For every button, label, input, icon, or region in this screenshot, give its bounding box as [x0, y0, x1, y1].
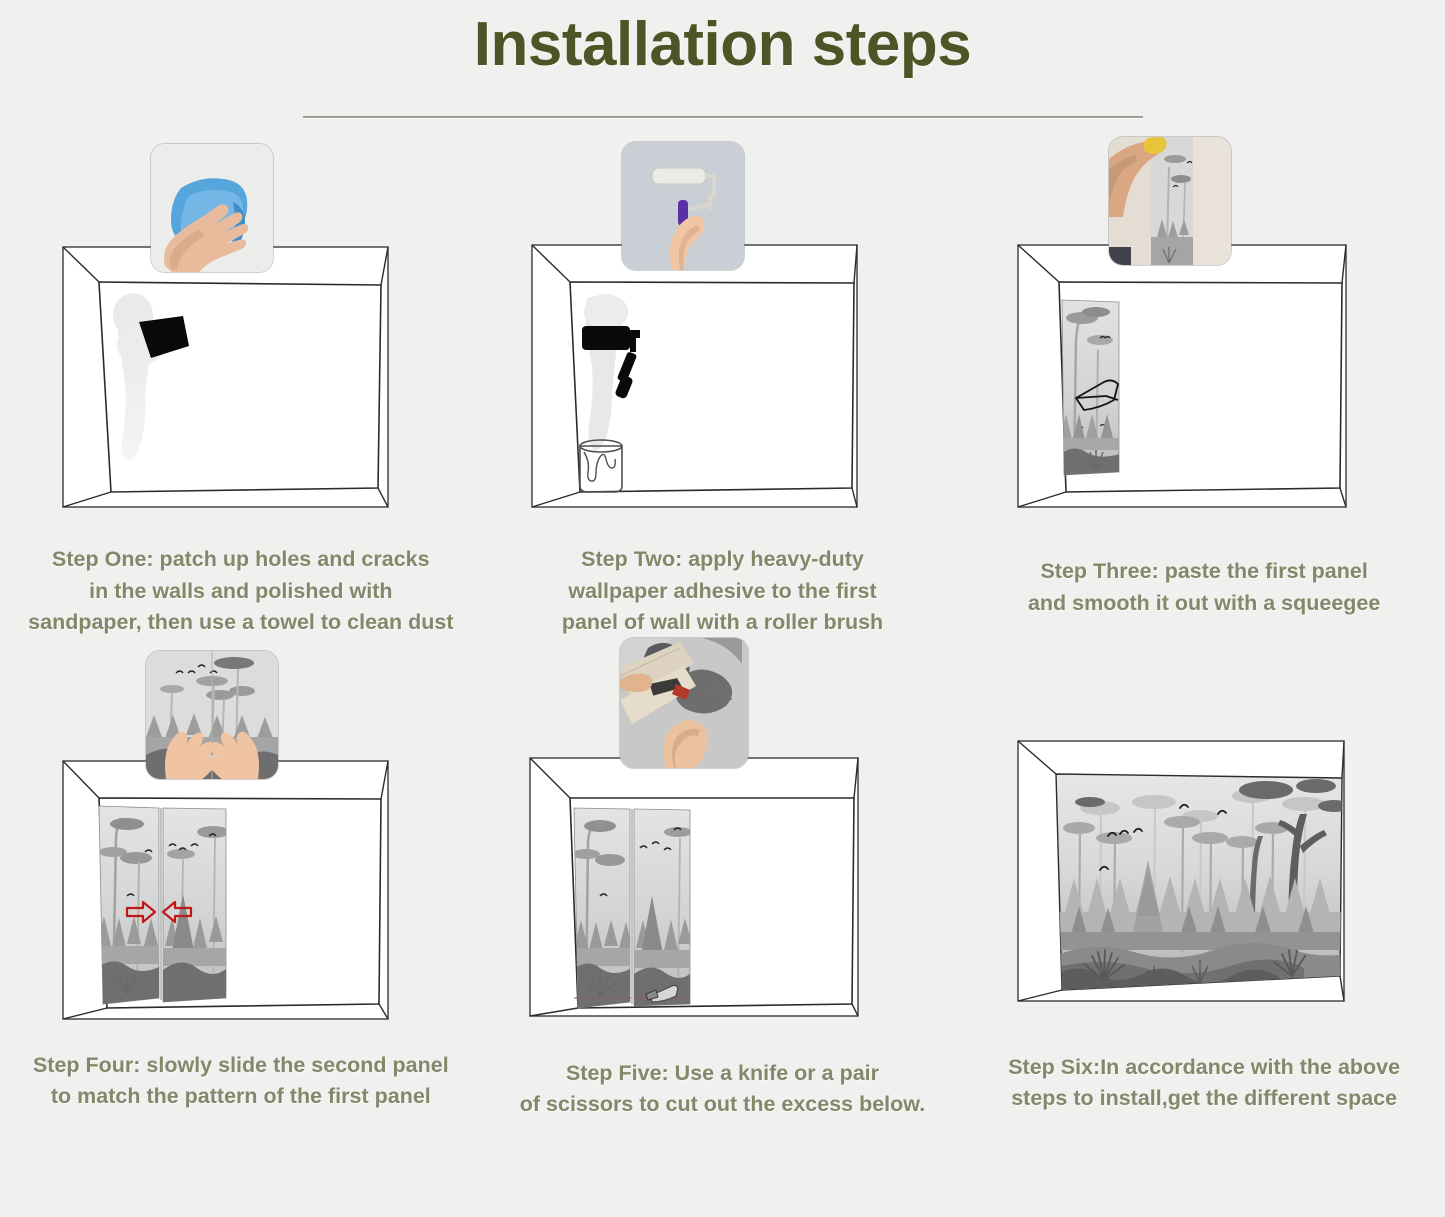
- step-three-photo-thumbnail: [1109, 137, 1231, 265]
- caption-line: Step Four: slowly slide the second panel: [33, 1050, 449, 1081]
- caption-line: panel of wall with a roller brush: [562, 607, 883, 638]
- step-card-three: Step Three: paste the first panel and sm…: [963, 140, 1445, 638]
- step-card-two: Step Two: apply heavy-duty wallpaper adh…: [482, 140, 964, 638]
- caption-line: and smooth it out with a squeegee: [1028, 588, 1380, 619]
- step-two-photo-thumbnail: [622, 142, 744, 270]
- step-six-caption: Step Six:In accordance with the above st…: [1008, 1052, 1400, 1114]
- caption-line: Step Two: apply heavy-duty: [562, 544, 883, 575]
- caption-line: sandpaper, then use a towel to clean dus…: [28, 607, 453, 638]
- caption-line: Step Six:In accordance with the above: [1008, 1052, 1400, 1083]
- step-three-illustration: [1004, 140, 1404, 540]
- step-card-four: Step Four: slowly slide the second panel…: [0, 646, 482, 1120]
- step-three-caption: Step Three: paste the first panel and sm…: [1028, 556, 1380, 618]
- room-diagram-six: [1004, 646, 1404, 1046]
- step-card-five: Step Five: Use a knife or a pair of scis…: [482, 646, 964, 1120]
- step-six-illustration: [1004, 646, 1404, 1046]
- step-five-illustration: [522, 646, 922, 1046]
- caption-line: of scissors to cut out the excess below.: [520, 1089, 925, 1120]
- mural-panel-first: [572, 808, 634, 1008]
- step-one-caption: Step One: patch up holes and cracks in t…: [28, 544, 453, 638]
- step-card-six: Step Six:In accordance with the above st…: [963, 646, 1445, 1120]
- installation-steps-grid: Step One: patch up holes and cracks in t…: [0, 140, 1445, 1120]
- step-two-caption: Step Two: apply heavy-duty wallpaper adh…: [562, 544, 883, 638]
- caption-line: to match the pattern of the first panel: [33, 1081, 449, 1112]
- caption-line: in the walls and polished with: [28, 576, 453, 607]
- title-divider: [303, 116, 1143, 118]
- step-five-caption: Step Five: Use a knife or a pair of scis…: [520, 1058, 925, 1120]
- step-five-photo-thumbnail: [620, 638, 748, 768]
- mural-panel-second: [634, 809, 692, 1006]
- step-one-illustration: [41, 140, 441, 540]
- mural-panel-first: [97, 806, 161, 1004]
- step-card-one: Step One: patch up holes and cracks in t…: [0, 140, 482, 638]
- caption-line: steps to install,get the different space: [1008, 1083, 1400, 1114]
- step-two-illustration: [522, 140, 922, 540]
- step-four-photo-thumbnail: [146, 651, 278, 779]
- page-header: Installation steps: [0, 0, 1445, 118]
- step-four-illustration: [41, 646, 441, 1046]
- step-four-caption: Step Four: slowly slide the second panel…: [33, 1050, 449, 1112]
- step-one-photo-thumbnail: [151, 144, 273, 272]
- page-title: Installation steps: [0, 0, 1445, 82]
- caption-line: Step Three: paste the first panel: [1028, 556, 1380, 587]
- caption-line: Step Five: Use a knife or a pair: [520, 1058, 925, 1089]
- caption-line: wallpaper adhesive to the first: [562, 576, 883, 607]
- caption-line: Step One: patch up holes and cracks: [28, 544, 453, 575]
